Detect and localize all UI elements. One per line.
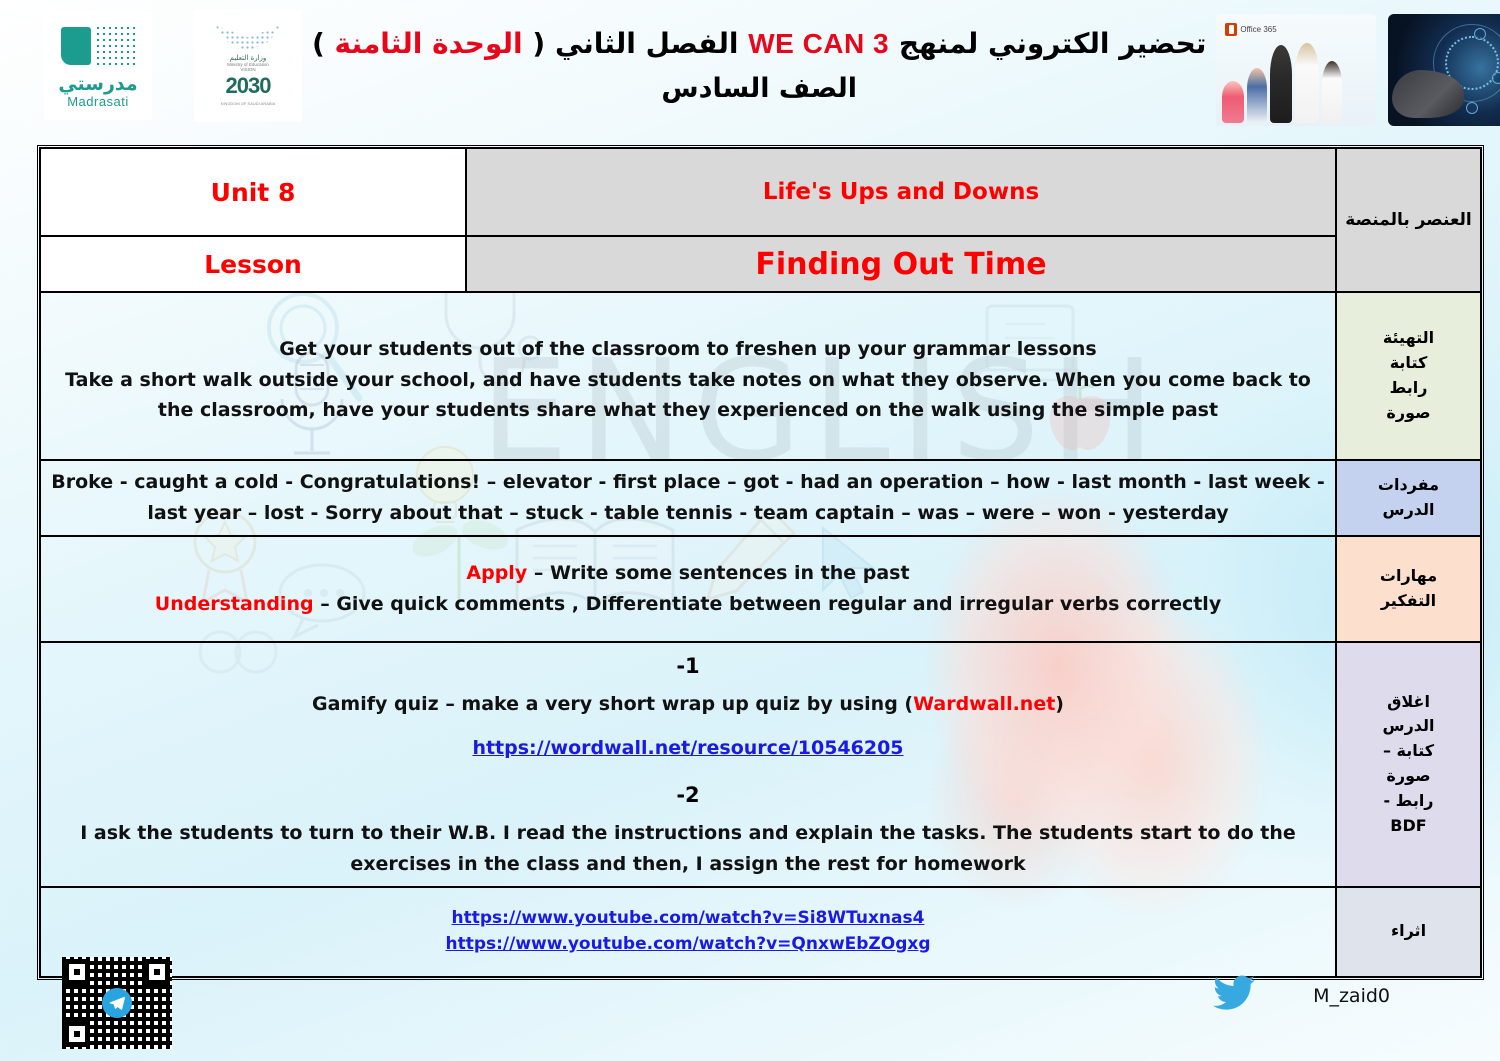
lesson-plan-sheet: Unit 8 Life's Ups and Downs العنصر بالمن… (37, 145, 1478, 980)
skill-understanding-tag: Understanding (155, 593, 314, 615)
tech-node-icon (1466, 102, 1478, 114)
title-unit: الوحدة الثامنة (335, 27, 523, 60)
office-365-illustration: Office 365 (1216, 14, 1376, 126)
wings-icon (215, 25, 281, 51)
closing-item-1-number: -1 (49, 649, 1327, 683)
page-title: تحضير الكتروني لمنهج WE CAN 3 الفصل الثا… (302, 6, 1216, 108)
closing-item-2-text: I ask the students to turn to their W.B.… (49, 818, 1327, 880)
vocabulary-content: Broke - caught a cold - Congratulations!… (40, 460, 1336, 536)
title-grade: الصف السادس (312, 69, 1206, 108)
label-closing: اغلاق الدرس كتابة – صورة رابط - BDF (1336, 642, 1481, 887)
warmup-line-2: Take a short walk outside your school, a… (49, 365, 1327, 427)
digital-technology-illustration (1388, 14, 1500, 126)
youtube-link-1[interactable]: https://www.youtube.com/watch?v=Si8WTuxn… (49, 906, 1327, 932)
thinking-skills-content: Apply – Write some sentences in the past… (40, 536, 1336, 642)
character-boy (1247, 68, 1267, 123)
vision-2030-logo: وزارة التعليم Ministry of Education VISI… (194, 10, 302, 122)
lesson-plan-table: Unit 8 Life's Ups and Downs العنصر بالمن… (37, 145, 1484, 980)
character-teacher-female (1270, 45, 1292, 123)
warmup-content: Get your students out of the classroom t… (40, 292, 1336, 460)
lesson-title: Finding Out Time (466, 236, 1336, 292)
closing-item-1-text: Gamify quiz – make a very short wrap up … (49, 689, 1327, 720)
madrasati-logo: مدرستي Madrasati (44, 12, 152, 120)
title-course: WE CAN 3 (748, 28, 889, 59)
madrasati-mark (59, 23, 137, 73)
wordwall-link-wrap: https://wordwall.net/resource/10546205 (49, 733, 1327, 764)
table-row-lesson: Lesson Finding Out Time (40, 236, 1481, 292)
ministry-arabic-name: وزارة التعليم (230, 54, 267, 62)
label-warmup: التهيئة كتابة رابط صورة (1336, 292, 1481, 460)
telegram-qr-code[interactable] (62, 957, 172, 1049)
label-column-header: العنصر بالمنصة (1336, 148, 1481, 292)
dots-pattern-icon (95, 25, 137, 67)
skill-apply-tag: Apply (466, 562, 527, 584)
unit-label: Unit 8 (40, 148, 466, 236)
vision-label: VISION (240, 67, 255, 72)
character-girl (1222, 81, 1244, 123)
student-characters (1222, 43, 1342, 123)
character-teacher-male (1295, 43, 1319, 123)
skill-understanding-text: – Give quick comments , Differentiate be… (320, 593, 1221, 615)
office-icon (1225, 23, 1237, 36)
qr-finder-bottom-left-icon (64, 1021, 90, 1047)
twitter-credit[interactable]: M_zaid0 (1213, 975, 1390, 1016)
madrasati-latin-name: Madrasati (67, 94, 129, 109)
book-icon (61, 27, 91, 65)
twitter-handle: M_zaid0 (1313, 985, 1390, 1007)
table-row-closing: -1 Gamify quiz – make a very short wrap … (40, 642, 1481, 887)
telegram-icon (102, 988, 132, 1018)
skill-understanding-line: Understanding – Give quick comments , Di… (49, 589, 1327, 620)
page-footer: M_zaid0 (0, 951, 1500, 1061)
kingdom-label: KINGDOM OF SAUDI ARABIA (221, 101, 276, 106)
gamify-text-b: ) (1055, 693, 1064, 715)
table-row-warmup: Get your students out of the classroom t… (40, 292, 1481, 460)
lesson-label: Lesson (40, 236, 466, 292)
skill-apply-text: – Write some sentences in the past (534, 562, 910, 584)
title-term-close: ) (312, 27, 325, 60)
title-line-one: تحضير الكتروني لمنهج WE CAN 3 الفصل الثا… (312, 24, 1206, 65)
qr-finder-top-right-icon (144, 959, 170, 985)
gamify-text-a: Gamify quiz – make a very short wrap up … (312, 693, 913, 715)
label-vocabulary: مفردات الدرس (1336, 460, 1481, 536)
tech-node-icon (1492, 72, 1500, 84)
unit-title: Life's Ups and Downs (466, 148, 1336, 236)
character-student (1322, 61, 1342, 123)
title-term: الفصل الثاني ( (532, 27, 738, 60)
skill-apply-line: Apply – Write some sentences in the past (49, 558, 1327, 589)
page-header: مدرستي Madrasati وزارة التعليم Ministry … (0, 0, 1500, 135)
office-365-label: Office 365 (1240, 25, 1276, 34)
office-365-badge: Office 365 (1225, 23, 1276, 36)
title-prefix: تحضير الكتروني لمنهج (899, 27, 1207, 60)
table-row-vocabulary: Broke - caught a cold - Congratulations!… (40, 460, 1481, 536)
table-row-unit: Unit 8 Life's Ups and Downs العنصر بالمن… (40, 148, 1481, 236)
madrasati-arabic-name: مدرستي (58, 75, 137, 94)
vision-year: 2030 (226, 73, 271, 99)
label-thinking-skills: مهارات التفكير (1336, 536, 1481, 642)
telegram-qr-wrapper[interactable] (62, 957, 172, 1049)
wardwall-brand: Wardwall.net (913, 693, 1055, 715)
twitter-icon (1213, 975, 1255, 1016)
qr-finder-top-left-icon (64, 959, 90, 985)
closing-content: -1 Gamify quiz – make a very short wrap … (40, 642, 1336, 887)
table-row-thinking-skills: Apply – Write some sentences in the past… (40, 536, 1481, 642)
warmup-line-1: Get your students out of the classroom t… (49, 334, 1327, 365)
closing-item-2-number: -2 (49, 778, 1327, 812)
wordwall-link[interactable]: https://wordwall.net/resource/10546205 (472, 737, 903, 759)
